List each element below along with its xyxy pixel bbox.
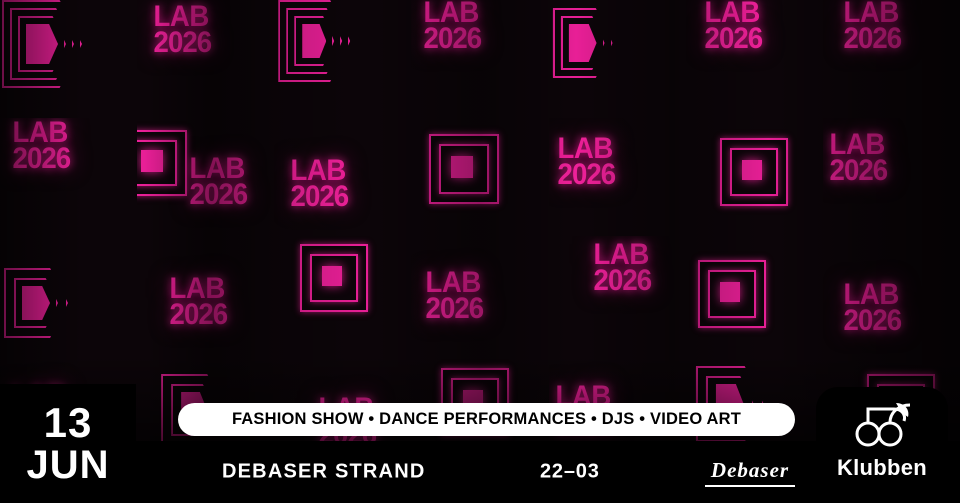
art-tile [549, 0, 686, 118]
art-tile-year: 2026 [829, 158, 887, 184]
klubben-logo: Klubben [816, 387, 948, 495]
event-time: 22–03 [540, 461, 600, 484]
art-tile: LAB 2026 [137, 236, 274, 354]
klubben-mark-icon [850, 401, 914, 451]
art-tile-year: 2026 [170, 302, 228, 328]
venue-name: DEBASER STRAND [222, 461, 425, 484]
event-date-box: 13 JUN [0, 384, 136, 503]
art-tile [0, 0, 137, 118]
event-poster: LAB 2026 LAB 2026 [0, 0, 960, 503]
lineup-pill: FASHION SHOW • DANCE PERFORMANCES • DJS … [178, 403, 795, 436]
art-tile [0, 236, 137, 354]
art-tile: LAB 2026 [411, 0, 548, 118]
event-day: 13 [44, 402, 93, 444]
art-tile [411, 118, 548, 236]
event-month: JUN [26, 444, 109, 486]
art-tile: LAB 2026 [0, 118, 137, 236]
art-tile: LAB 2026 [823, 0, 960, 118]
klubben-logo-text: Klubben [837, 455, 927, 481]
art-tile [274, 0, 411, 118]
art-tile-year: 2026 [424, 26, 482, 52]
art-tile-year: 2026 [557, 162, 615, 188]
art-tile [686, 236, 823, 354]
debaser-logo-text: Debaser [705, 458, 795, 487]
art-tile-year: 2026 [843, 26, 901, 52]
art-tile: LAB 2026 [549, 236, 686, 354]
art-tile: LAB 2026 [823, 236, 960, 354]
art-tile: LAB 2026 [137, 0, 274, 118]
art-tile: LAB 2026 [686, 0, 823, 118]
art-tile-year: 2026 [154, 30, 212, 56]
art-tile-year: 2026 [843, 308, 901, 334]
art-tile: LAB 2026 [274, 118, 411, 236]
debaser-logo: Debaser [680, 457, 820, 487]
art-tile-year: 2026 [291, 184, 349, 210]
art-tile: LAB 2026 [411, 236, 548, 354]
art-tile: LAB 2026 [549, 118, 686, 236]
art-tile-year: 2026 [704, 26, 762, 52]
art-tile-year: 2026 [426, 296, 484, 322]
art-tile [686, 118, 823, 236]
art-tile: LAB 2026 [137, 118, 274, 236]
art-tile-year: 2026 [13, 146, 71, 172]
art-tile-year: 2026 [593, 268, 651, 294]
art-tile-year: 2026 [190, 182, 248, 208]
art-tile: LAB 2026 [823, 118, 960, 236]
art-tile [274, 236, 411, 354]
poster-footer: 13 JUN FASHION SHOW • DANCE PERFORMANCES… [0, 384, 960, 503]
